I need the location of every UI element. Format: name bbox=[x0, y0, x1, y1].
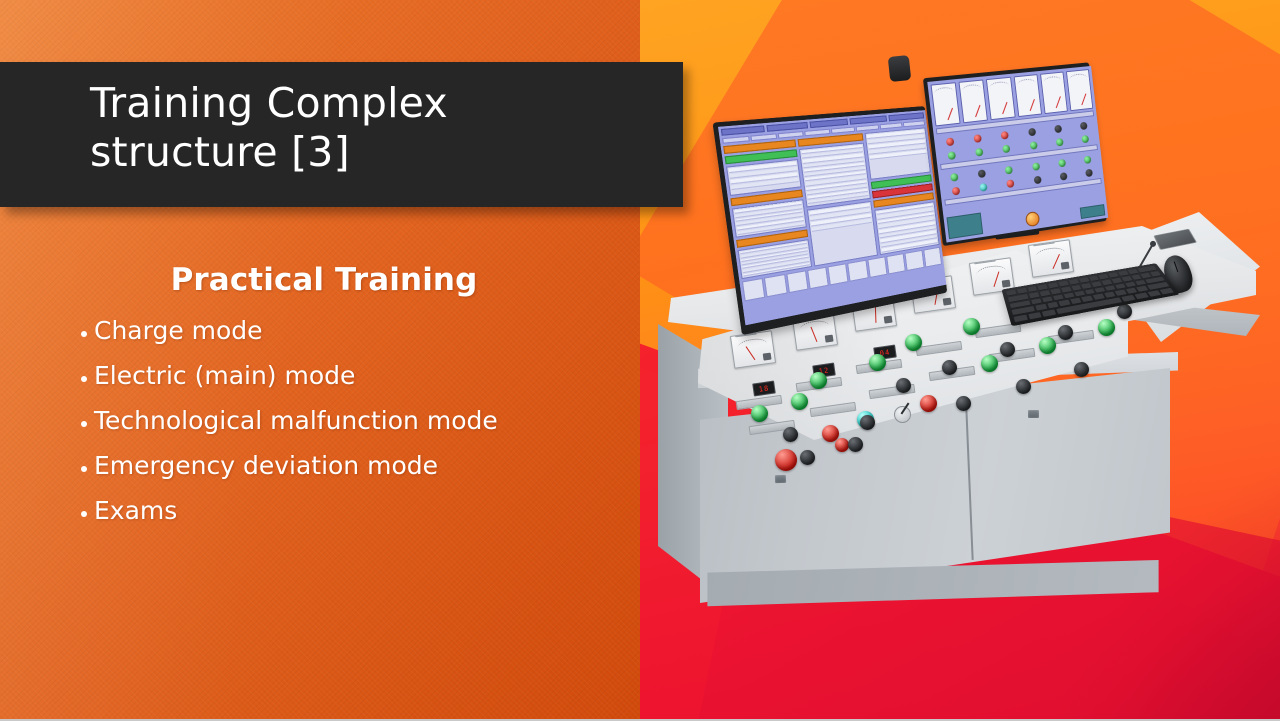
list-item: Charge mode bbox=[0, 318, 640, 343]
list-item: Technological malfunction mode bbox=[0, 408, 640, 433]
virtual-lamp-green bbox=[1005, 165, 1013, 174]
screen-column-right bbox=[865, 127, 940, 255]
meter-screw-icon bbox=[825, 335, 834, 343]
slide-canvas: 18 12 04 bbox=[0, 0, 1280, 721]
virtual-lamp-green bbox=[950, 172, 959, 181]
virtual-knob bbox=[1054, 124, 1062, 132]
virtual-gauge bbox=[931, 82, 961, 126]
rotary-knob[interactable] bbox=[800, 450, 815, 465]
virtual-lamp-green bbox=[975, 147, 983, 156]
virtual-knob bbox=[1033, 175, 1041, 184]
meter-screw-icon bbox=[943, 298, 952, 306]
scada-data-screen bbox=[718, 110, 946, 325]
virtual-knob bbox=[1059, 172, 1067, 181]
meter-scale-icon bbox=[976, 264, 1008, 281]
info-panel-teal bbox=[1080, 204, 1106, 219]
meter-screw-icon bbox=[763, 353, 772, 361]
virtual-lamp-green bbox=[1002, 144, 1010, 153]
indicator-lamp-red[interactable] bbox=[920, 395, 937, 412]
virtual-knob bbox=[1028, 127, 1036, 136]
training-modes-list: Charge mode Electric (main) mode Technol… bbox=[0, 318, 640, 523]
meter-screw-icon bbox=[1002, 280, 1011, 288]
virtual-gauge bbox=[959, 79, 989, 123]
list-item: Electric (main) mode bbox=[0, 363, 640, 388]
virtual-lamp-green bbox=[1032, 162, 1040, 171]
virtual-lamp-green bbox=[1081, 134, 1089, 142]
cabinet-latch-icon bbox=[1028, 410, 1039, 418]
title-banner: Training Complex structure [3] bbox=[0, 62, 683, 207]
data-table bbox=[875, 201, 940, 255]
meter-screw-icon bbox=[884, 316, 893, 324]
virtual-lamp-red bbox=[946, 137, 955, 146]
bullet-dot-icon bbox=[81, 466, 87, 472]
mimic-panel-monitor[interactable] bbox=[923, 62, 1107, 246]
list-item-label: Charge mode bbox=[94, 316, 263, 345]
rotary-knob[interactable] bbox=[1000, 342, 1015, 357]
virtual-knob bbox=[978, 169, 986, 178]
push-button-red[interactable] bbox=[835, 438, 849, 452]
info-panel-teal bbox=[946, 213, 983, 240]
indicator-lamp-green[interactable] bbox=[963, 318, 980, 335]
rotary-knob[interactable] bbox=[783, 427, 798, 442]
virtual-gauge bbox=[1040, 72, 1068, 115]
indicator-lamp-green[interactable] bbox=[905, 334, 922, 351]
list-item-label: Technological malfunction mode bbox=[94, 406, 498, 435]
data-table bbox=[806, 200, 878, 266]
virtual-lamp-green bbox=[1055, 138, 1063, 146]
training-console-image: 18 12 04 bbox=[640, 0, 1280, 719]
rotary-knob[interactable] bbox=[860, 415, 875, 430]
camera-mount-icon bbox=[888, 55, 911, 82]
virtual-lamp-red bbox=[1007, 179, 1015, 188]
virtual-gauge bbox=[986, 77, 1015, 120]
data-table bbox=[865, 127, 931, 179]
virtual-lamp-green bbox=[947, 151, 956, 160]
virtual-lamp-cyan bbox=[979, 182, 987, 191]
indicator-lamp-green[interactable] bbox=[1039, 337, 1056, 354]
meter-scale-icon bbox=[1035, 246, 1067, 263]
meter-screw-icon bbox=[1061, 262, 1070, 270]
rotary-knob[interactable] bbox=[1074, 362, 1089, 377]
slide-body-content: Practical Training Charge mode Electric … bbox=[0, 262, 640, 543]
virtual-knob bbox=[1080, 121, 1088, 129]
section-subheading: Practical Training bbox=[0, 262, 640, 298]
emergency-button-icon[interactable] bbox=[1024, 211, 1039, 227]
rotary-knob[interactable] bbox=[848, 437, 863, 452]
virtual-lamp-red bbox=[952, 186, 961, 195]
indicator-lamp-green[interactable] bbox=[791, 393, 808, 410]
rotary-knob[interactable] bbox=[942, 360, 957, 375]
mimic-panel-screen bbox=[927, 66, 1108, 243]
virtual-gauge bbox=[1013, 74, 1041, 117]
indicator-lamp-green[interactable] bbox=[981, 355, 998, 372]
analog-meter-1 bbox=[730, 330, 776, 369]
indicator-lamp-green[interactable] bbox=[810, 372, 827, 389]
rotary-knob[interactable] bbox=[1117, 304, 1132, 319]
cabinet-latch-icon bbox=[775, 475, 786, 483]
indicator-lamp-green[interactable] bbox=[1098, 319, 1115, 336]
rotary-knob[interactable] bbox=[956, 396, 971, 411]
bullet-dot-icon bbox=[81, 376, 87, 382]
indicator-lamp-green[interactable] bbox=[869, 354, 886, 371]
list-item: Emergency deviation mode bbox=[0, 453, 640, 478]
virtual-lamp-green bbox=[1084, 155, 1092, 163]
list-item-label: Emergency deviation mode bbox=[94, 451, 438, 480]
emergency-stop-button[interactable] bbox=[775, 449, 797, 471]
virtual-lamp-red bbox=[1001, 130, 1009, 139]
rotary-knob[interactable] bbox=[1016, 379, 1031, 394]
key-switch[interactable] bbox=[894, 406, 911, 423]
rotary-knob[interactable] bbox=[1058, 325, 1073, 340]
data-table bbox=[798, 143, 871, 207]
virtual-lamp-green bbox=[1058, 158, 1066, 167]
meter-scale-icon bbox=[737, 337, 769, 354]
virtual-gauge bbox=[1066, 69, 1093, 111]
screen-column-center bbox=[797, 133, 878, 266]
virtual-lamp-green bbox=[1029, 141, 1037, 150]
rotary-knob[interactable] bbox=[896, 378, 911, 393]
page-title: Training Complex structure [3] bbox=[90, 79, 665, 177]
virtual-knob bbox=[1085, 168, 1093, 176]
virtual-lamp-red bbox=[974, 134, 982, 143]
indicator-lamp-green[interactable] bbox=[751, 405, 768, 422]
bullet-dot-icon bbox=[81, 421, 87, 427]
list-item-label: Electric (main) mode bbox=[94, 361, 355, 390]
bullet-dot-icon bbox=[81, 511, 87, 517]
list-item: Exams bbox=[0, 498, 640, 523]
analog-meter-6 bbox=[1028, 239, 1074, 278]
screen-column-left bbox=[723, 139, 812, 279]
list-item-label: Exams bbox=[94, 496, 177, 525]
bullet-dot-icon bbox=[81, 331, 87, 337]
